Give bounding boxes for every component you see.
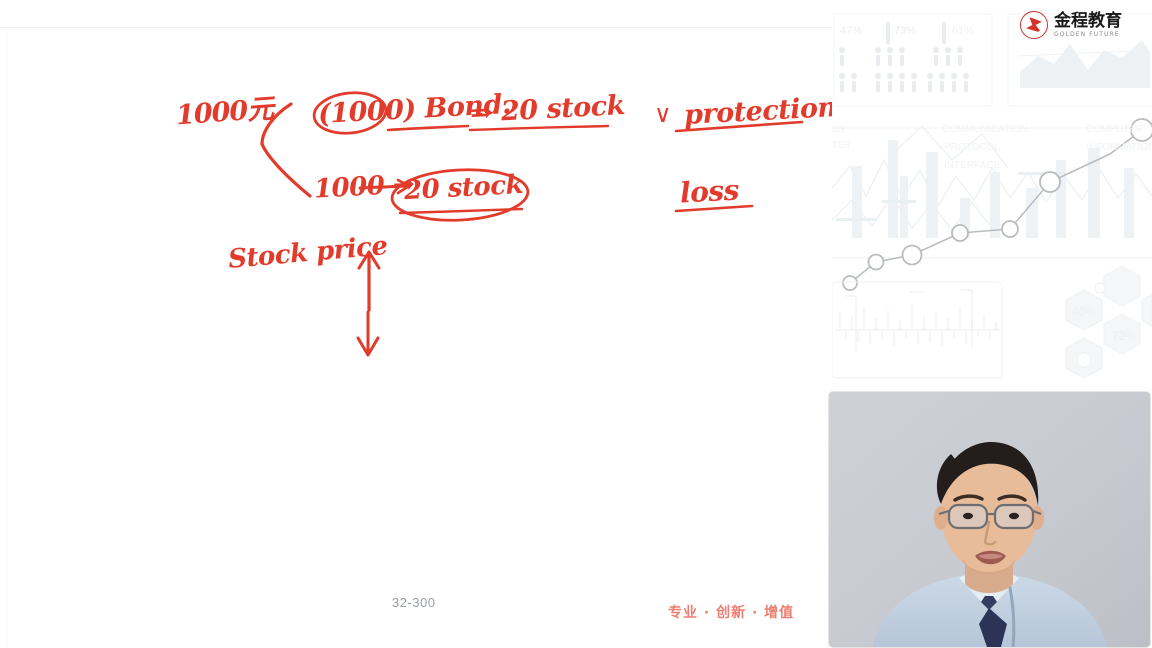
svg-text:COMPUTER: COMPUTER: [1086, 124, 1143, 135]
instructor-video-tile[interactable]: [829, 392, 1150, 647]
left-edge-line: [7, 28, 8, 648]
svg-text:INTERFACE: INTERFACE: [944, 160, 1000, 171]
hex-2-text: 72%: [1112, 329, 1136, 343]
ink-branch-bottom-amount: 1000 →: [313, 171, 414, 202]
stat-left-text: 47%: [840, 25, 862, 37]
stat-right-text: 61%: [952, 25, 974, 37]
ink-branch-bottom-result: 20 stock: [403, 172, 523, 204]
ink-note-protection: protection: [683, 94, 837, 129]
svg-text:DS: DS: [832, 124, 845, 134]
instructor-portrait: [829, 392, 1150, 647]
logo-wordmark: 金程教育 GOLDEN FUTURE: [1054, 13, 1122, 38]
ink-note-loss: loss: [679, 176, 739, 207]
presentation-screen: --> 1000元 (1000) Bond. ⇒ 20 stock 1000 →…: [0, 0, 1152, 648]
page-number: 32-300: [392, 595, 435, 610]
ink-axis-label: Stock price: [227, 233, 388, 273]
slide-canvas: --> 1000元 (1000) Bond. ⇒ 20 stock 1000 →…: [0, 0, 832, 648]
svg-text:TER: TER: [832, 140, 851, 150]
brand-logo: 金程教育 GOLDEN FUTURE: [1020, 10, 1122, 40]
infographic-panel: 47% 73% 61%: [832, 0, 1152, 390]
brand-slogan: 专业 · 创新 · 增值: [668, 602, 794, 622]
ink-check-mark: ∨: [654, 102, 672, 126]
svg-text:COMMUNICATION: COMMUNICATION: [942, 124, 1028, 135]
stat-mid-text: 73%: [894, 25, 916, 37]
infographic-graphics: 47% 73% 61%: [832, 0, 1152, 390]
ink-amount-percent: 1000元: [175, 96, 274, 130]
ink-branch-top-result: ⇒ 20 stock: [469, 92, 625, 127]
logo-name-en: GOLDEN FUTURE: [1054, 32, 1122, 38]
svg-text:PROTOCOL: PROTOCOL: [944, 142, 1000, 153]
logo-name-cn: 金程教育: [1054, 13, 1122, 30]
svg-text:INFORMATION: INFORMATION: [1086, 142, 1152, 153]
logo-seal-icon: [1020, 11, 1048, 39]
hex-1-text: 40%: [1072, 305, 1096, 319]
